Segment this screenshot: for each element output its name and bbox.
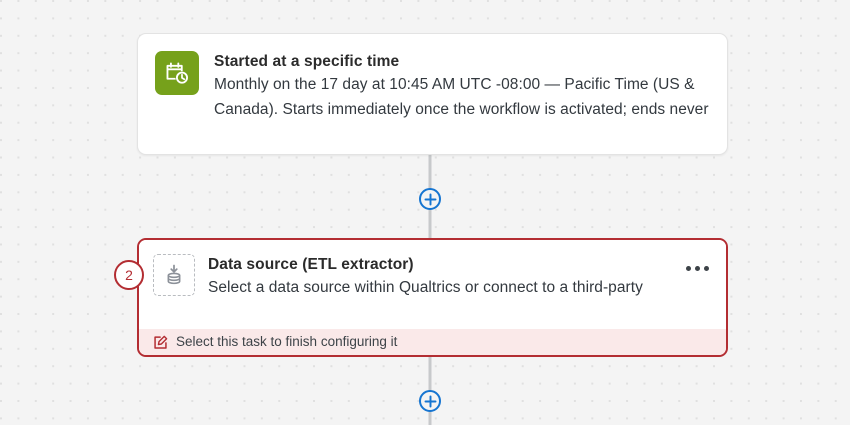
task-error-message: Select this task to finish configuring i… bbox=[176, 334, 397, 350]
plus-circle-icon bbox=[424, 395, 437, 408]
workflow-canvas: Started at a specific time Monthly on th… bbox=[0, 0, 850, 425]
edit-pencil-icon bbox=[153, 335, 168, 350]
step-number-badge: 2 bbox=[114, 260, 144, 290]
calendar-clock-icon bbox=[155, 51, 199, 95]
trigger-card-body: Started at a specific time Monthly on th… bbox=[214, 51, 709, 122]
ellipsis-dot bbox=[704, 266, 709, 271]
add-step-button-2[interactable] bbox=[419, 390, 441, 412]
trigger-title: Started at a specific time bbox=[214, 51, 709, 72]
trigger-description: Monthly on the 17 day at 10:45 AM UTC -0… bbox=[214, 73, 709, 122]
workflow-node-trigger[interactable]: Started at a specific time Monthly on th… bbox=[137, 33, 728, 155]
workflow-node-task[interactable]: Data source (ETL extractor) Select a dat… bbox=[137, 238, 728, 357]
add-step-button-1[interactable] bbox=[419, 188, 441, 210]
plus-circle-icon bbox=[424, 193, 437, 206]
ellipsis-dot bbox=[695, 266, 700, 271]
ellipsis-icon[interactable] bbox=[682, 254, 712, 271]
task-card-main: Data source (ETL extractor) Select a dat… bbox=[139, 240, 726, 329]
task-title: Data source (ETL extractor) bbox=[208, 254, 682, 275]
ellipsis-dot bbox=[686, 266, 691, 271]
database-download-icon bbox=[153, 254, 195, 296]
task-error-banner: Select this task to finish configuring i… bbox=[139, 329, 726, 355]
task-description: Select a data source within Qualtrics or… bbox=[208, 276, 682, 301]
task-card-body: Data source (ETL extractor) Select a dat… bbox=[208, 254, 682, 301]
